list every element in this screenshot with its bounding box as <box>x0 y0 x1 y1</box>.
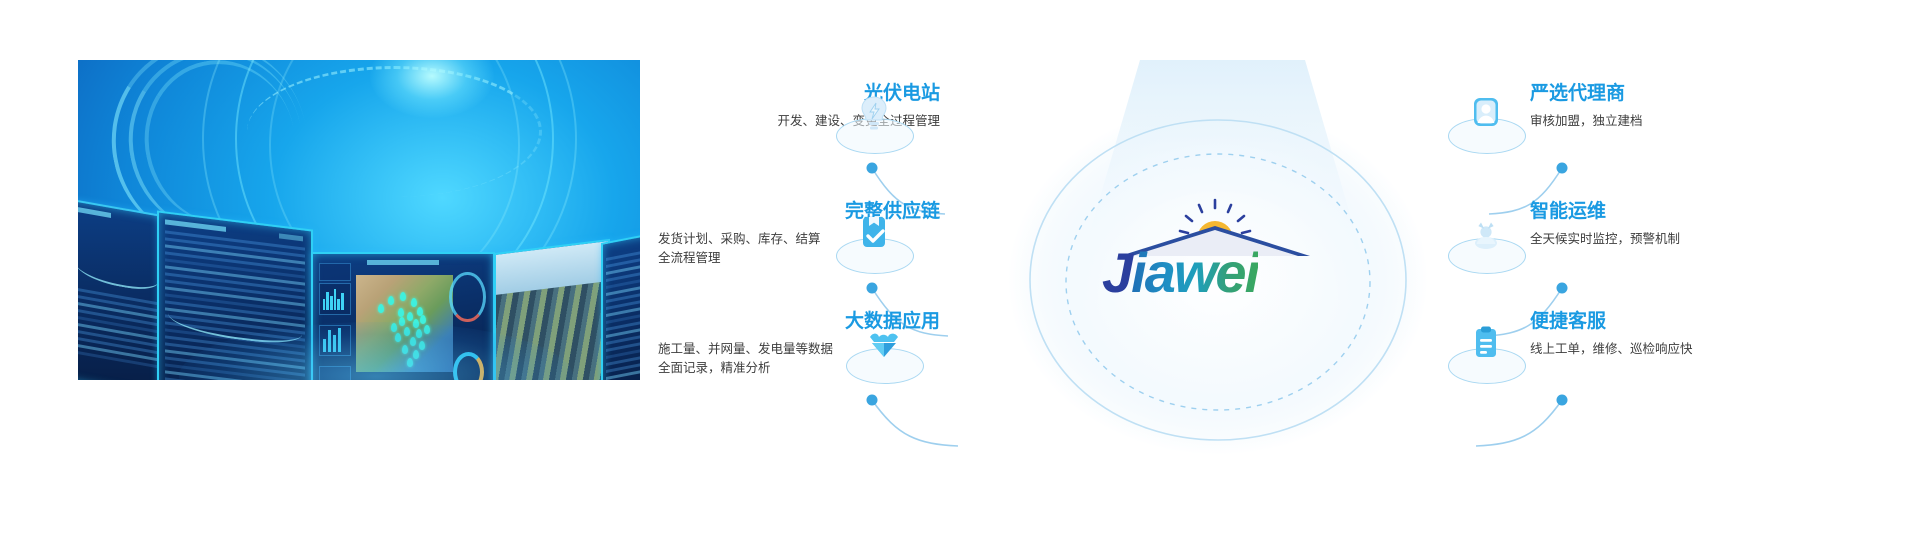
connector-right-3 <box>1476 400 1562 446</box>
connector-dot-right-1 <box>1557 163 1568 174</box>
control-room-photo <box>78 60 640 380</box>
connector-left-3 <box>872 400 958 446</box>
connector-dot-left-2 <box>867 283 878 294</box>
kpi-panel <box>319 263 352 281</box>
feature-item-customer-service[interactable]: 便捷客服 线上工单，维修、巡检响应快 <box>1530 312 1890 359</box>
wall-header-bar-right <box>279 233 303 241</box>
speed-gauge <box>449 272 486 322</box>
wall-data-rows <box>605 246 640 380</box>
feature-icon-plate-customer-service[interactable] <box>1448 326 1524 384</box>
jiawei-wordmark: Jiawei <box>1102 240 1332 300</box>
lightbulb-head-icon <box>854 94 894 134</box>
feature-item-selected-agents[interactable]: 严选代理商 审核加盟，独立建档 <box>1530 84 1890 131</box>
feature-desc: 全天候实时监控，预警机制 <box>1530 230 1890 249</box>
features-infographic: 光伏电站 开发、建设、变更全过程管理 完整供应链 发货计划、采购、库存、结算 全… <box>640 0 1920 552</box>
logo-letter-j: J <box>1102 241 1131 304</box>
feature-title: 严选代理商 <box>1530 84 1890 105</box>
feature-desc: 审核加盟，独立建档 <box>1530 112 1890 131</box>
feature-item-smart-ops[interactable]: 智能运维 全天候实时监控，预警机制 <box>1530 202 1890 249</box>
feature-title: 便捷客服 <box>1530 312 1890 333</box>
video-wall-far-left <box>78 198 166 380</box>
wall-header-bar <box>165 219 226 231</box>
dashboard-title-bar <box>367 260 439 265</box>
feature-icon-plate-agents[interactable] <box>1448 96 1524 154</box>
page-root: 光伏电站 开发、建设、变更全过程管理 完整供应链 发货计划、采购、库存、结算 全… <box>0 0 1920 552</box>
connector-dot-right-3 <box>1557 395 1568 406</box>
feature-desc: 线上工单，维修、巡检响应快 <box>1530 340 1890 359</box>
agent-badge-icon <box>1466 94 1506 134</box>
wall-data-rows <box>78 287 160 380</box>
bar-chart-panel-1 <box>319 283 352 314</box>
checklist-document-icon <box>854 214 894 254</box>
feature-title: 智能运维 <box>1530 202 1890 223</box>
video-wall-far-right <box>601 229 640 380</box>
connector-dot-left-1 <box>867 163 878 174</box>
connector-dot-left-3 <box>867 395 878 406</box>
logo-letters-iawei: iawei <box>1131 241 1258 304</box>
wall-header-bar <box>78 207 111 219</box>
feature-icon-plate-bigdata[interactable] <box>846 326 922 384</box>
gear-person-icon <box>1466 214 1506 254</box>
jiawei-logo: Jiawei <box>1102 196 1332 304</box>
wall-sparkline <box>78 248 159 293</box>
connector-dot-right-2 <box>1557 283 1568 294</box>
feature-icon-plate-smart-ops[interactable] <box>1448 216 1524 274</box>
feature-icon-plate-supply-chain[interactable] <box>836 216 912 274</box>
feature-icon-plate-photovoltaic[interactable] <box>836 96 912 154</box>
open-box-icon <box>864 324 904 364</box>
clipboard-icon <box>1466 324 1506 364</box>
